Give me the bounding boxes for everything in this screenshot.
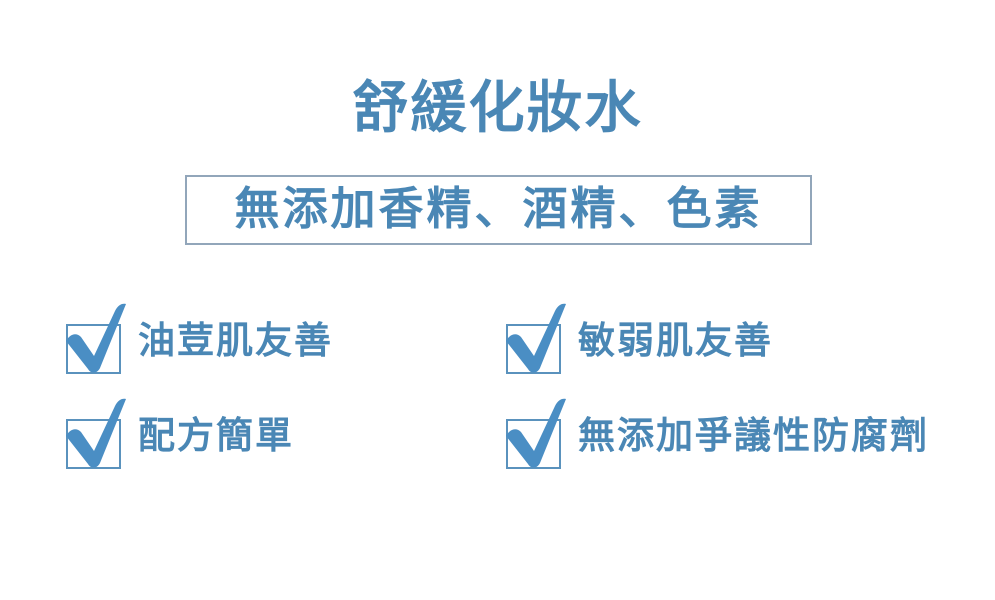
checkmark-icon [60,395,132,475]
product-feature-poster: 舒緩化妝水 無添加香精、酒精、色素 油荳肌友善 敏弱肌友善 [0,0,995,600]
feature-label: 敏弱肌友善 [578,318,773,362]
checkmark-icon [500,395,572,475]
subtitle-text: 無添加香精、酒精、色素 [234,184,762,234]
checkbox-checked [500,300,572,380]
feature-list: 油荳肌友善 敏弱肌友善 配方簡單 [60,300,995,480]
feature-item: 配方簡單 [60,395,294,475]
checkmark-icon [500,300,572,380]
checkbox-checked [60,395,132,475]
feature-item: 油荳肌友善 [60,300,333,380]
page-title: 舒緩化妝水 [0,76,995,140]
checkbox-checked [500,395,572,475]
feature-item: 無添加爭議性防腐劑 [500,395,929,475]
feature-item: 敏弱肌友善 [500,300,773,380]
checkbox-checked [60,300,132,380]
checkmark-icon [60,300,132,380]
subtitle-banner: 無添加香精、酒精、色素 [185,175,812,245]
feature-label: 油荳肌友善 [138,318,333,362]
feature-label: 無添加爭議性防腐劑 [578,413,929,457]
feature-label: 配方簡單 [138,413,294,457]
